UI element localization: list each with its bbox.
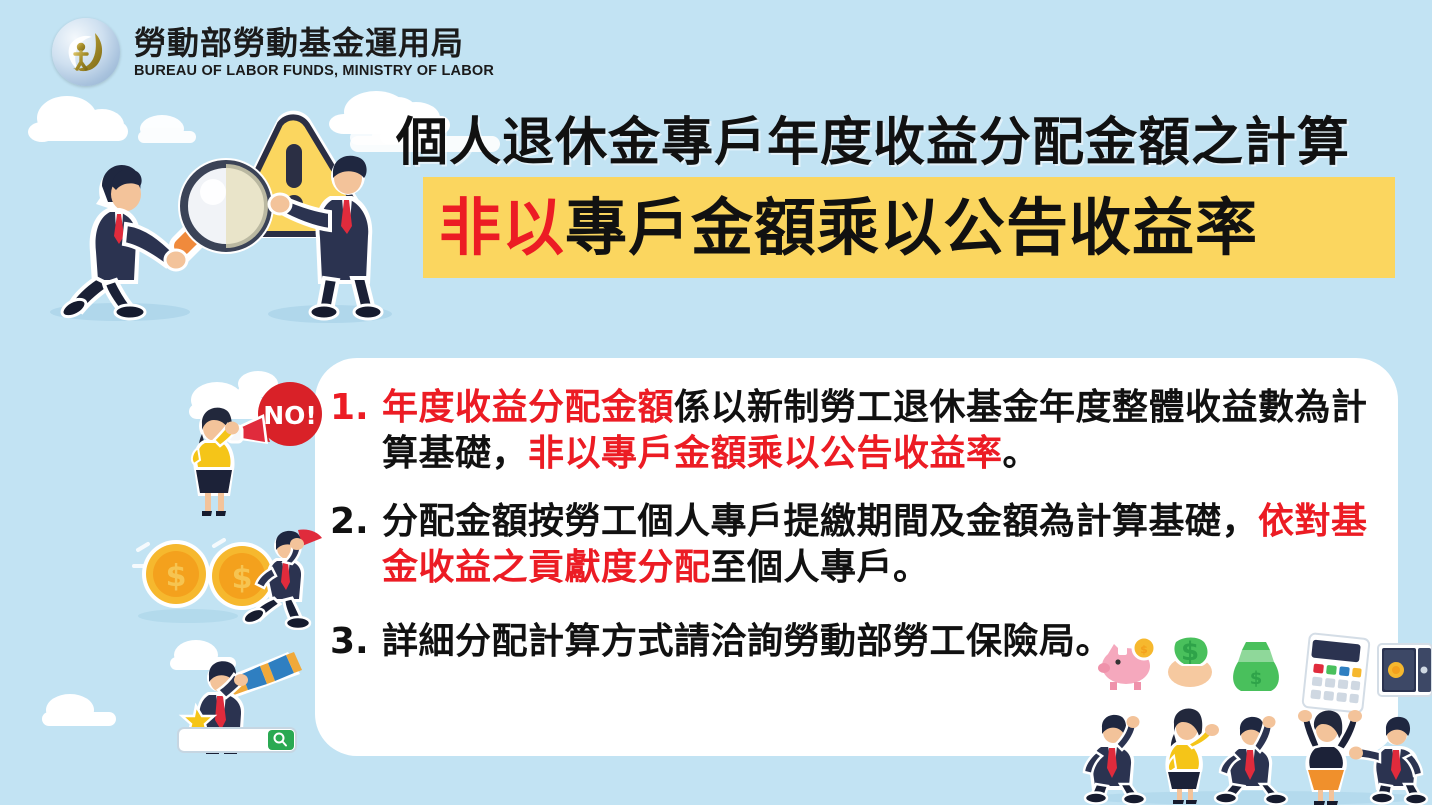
org-name-zh: 勞動部勞動基金運用局 [134,27,494,61]
money-sack-icon: $ [1230,642,1281,694]
org-name-en: BUREAU OF LABOR FUNDS, MINISTRY OF LABOR [134,63,494,79]
list-text-segment: 非以專戶金額乘以公告收益率 [528,433,1003,474]
piggy-bank-icon: $ [1098,637,1155,690]
coins-runner-scene: $ $ [126,520,336,630]
list-item-text: 年度收益分配金額係以新制勞工退休基金年度整體收益數為計算基礎，非以專戶金額乘以公… [382,385,1386,477]
svg-text:$: $ [1181,637,1199,667]
no-megaphone-illustration: NO! [178,382,328,517]
list-marker: 1. [330,385,382,431]
businessman-cheering [1084,715,1145,805]
celebration-illustration: $ $ $ [1078,622,1432,805]
list-text-segment: 。 [1003,433,1040,474]
cloud-icon [30,690,130,730]
coins-runner-illustration: $ $ [126,520,336,630]
list-text-segment: 。 [893,547,930,588]
list-text-segment: 至個人專戶 [711,547,894,588]
page-title-line-2: 非以專戶金額乘以公告收益率 [423,197,1258,259]
cloud-decoration-9 [30,690,130,735]
page-title-highlight-bar: 非以專戶金額乘以公告收益率 [423,177,1395,278]
magnifying-glass-icon [167,158,274,264]
infographic-canvas: 勞動部勞動基金運用局 BUREAU OF LABOR FUNDS, MINIST… [0,0,1432,805]
bureau-logo [52,18,120,86]
page-title-rest: 專戶金額乘以公告收益率 [565,191,1258,264]
header-branding: 勞動部勞動基金運用局 BUREAU OF LABOR FUNDS, MINIST… [52,18,494,86]
list-item-text: 分配金額按勞工個人專戶提繳期間及金額為計算基礎，依對基金收益之貢獻度分配至個人專… [382,499,1386,591]
telescope-search-illustration [168,640,328,758]
magnifier-warning-scene [30,100,400,330]
list-item-text: 詳細分配計算方式請洽詢勞動部勞工保險局。 [382,619,1112,665]
list-text-segment: 詳細分配計算方式請洽詢勞動部勞工保險局 [382,621,1076,662]
list-text-segment: 分配金額按勞工個人專戶提繳期間及金額為計算基礎， [382,501,1258,542]
woman-with-megaphone [192,408,239,516]
no-megaphone-scene: NO! [178,382,328,517]
safe-vault-icon [1378,644,1432,696]
gold-coin-icon: $ [142,540,210,608]
hero-illustration [30,100,400,330]
list-marker: 2. [330,499,382,545]
search-bar [178,728,296,752]
svg-text:$: $ [166,559,187,594]
svg-text:$: $ [1250,668,1263,689]
businessman-pointing [1349,717,1427,805]
svg-text:$: $ [232,561,253,596]
calculator-icon [1302,633,1369,713]
list-marker: 3. [330,619,382,665]
no-bubble-text: NO! [263,401,317,430]
list-text-segment: 年度收益分配金額 [382,387,674,428]
page-title-emphasis: 非以 [439,191,565,264]
list-item: 1. 年度收益分配金額係以新制勞工退休基金年度整體收益數為計算基礎，非以專戶金額… [330,385,1386,477]
org-name-block: 勞動部勞動基金運用局 BUREAU OF LABOR FUNDS, MINIST… [134,25,494,80]
money-bag-dollar-icon: $ [1164,636,1216,691]
businessman-pushing-magnifier [59,165,187,320]
businesswoman-cheering [1165,709,1219,804]
list-item: 2. 分配金額按勞工個人專戶提繳期間及金額為計算基礎，依對基金收益之貢獻度分配至… [330,499,1386,591]
page-title-line-1: 個人退休金專戶年度收益分配金額之計算 [396,100,1350,175]
svg-text:$: $ [1140,643,1148,656]
logo-swoosh-icon [61,27,111,77]
celebration-finance-scene: $ $ $ [1078,622,1432,805]
telescope-search-scene [168,640,328,758]
